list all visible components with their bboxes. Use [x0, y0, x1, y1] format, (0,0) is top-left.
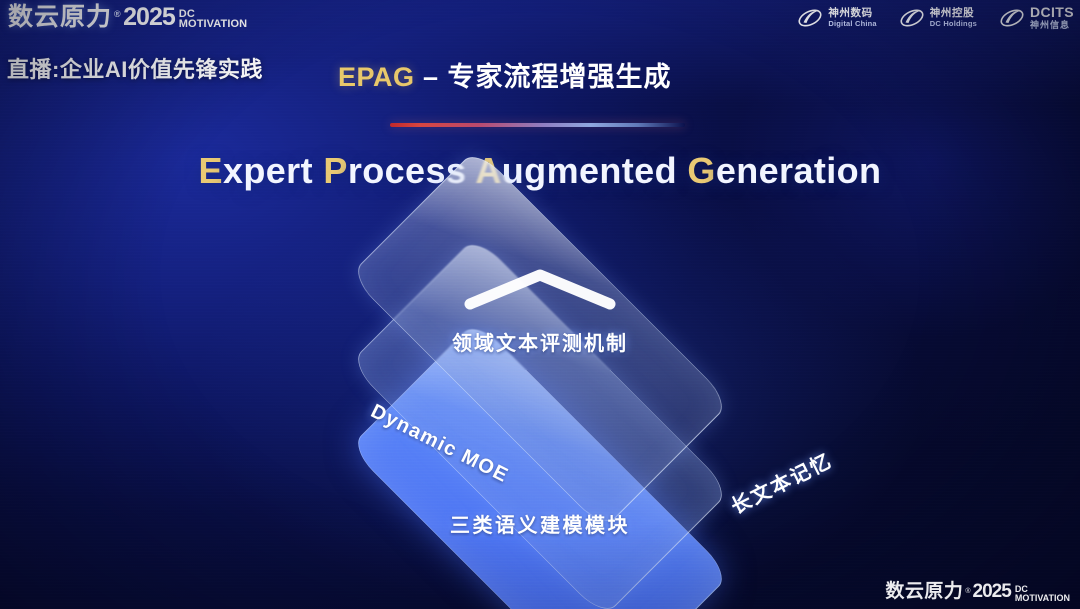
presentation-slide: 数云原力 ® 2025 DC MOTIVATION 直播:企业AI价值先锋实践 …: [0, 0, 1080, 609]
watermark-dc-motivation: DC MOTIVATION: [1015, 585, 1070, 602]
watermark-year: 2025: [973, 581, 1011, 603]
layer-label-bottom: 三类语义建模模块: [450, 509, 630, 538]
layer-label-top: 领域文本评测机制: [452, 327, 628, 356]
footer-watermark: 数云原力 ® 2025 DC MOTIVATION: [885, 576, 1070, 603]
watermark-registered-mark: ®: [965, 588, 970, 595]
chevron-up-icon: [462, 266, 618, 312]
watermark-name-cn: 数云原力: [885, 576, 963, 603]
watermark-dc-line2: MOTIVATION: [1015, 594, 1070, 603]
